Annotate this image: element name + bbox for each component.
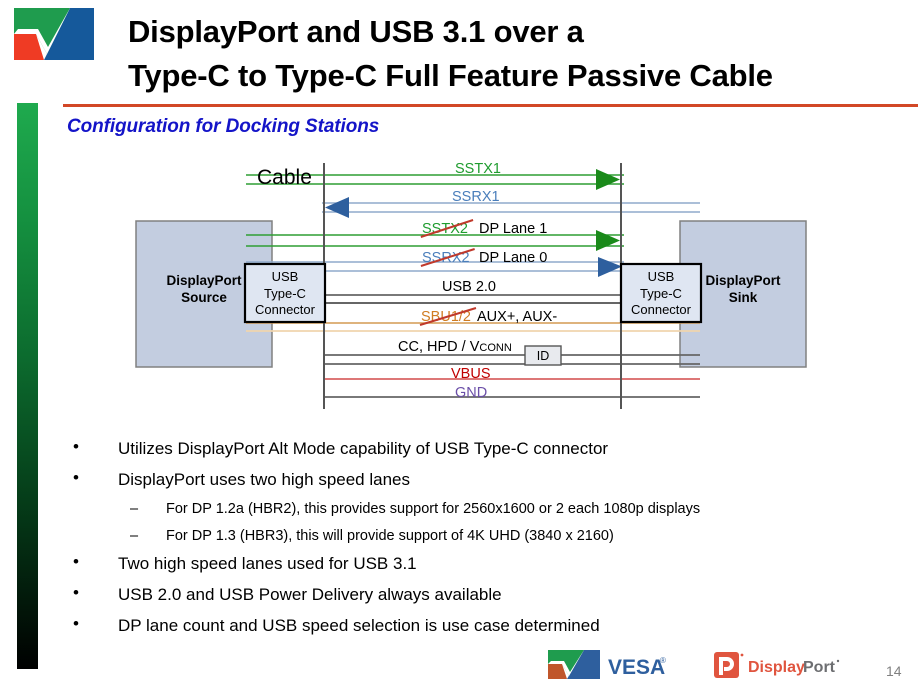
id-box-label: ID — [525, 348, 561, 364]
page-number: 14 — [886, 663, 902, 679]
signal-alt-label-dp-lane-0: DP Lane 0 — [479, 250, 547, 266]
svg-text:Display: Display — [748, 659, 805, 676]
bullet-subitem: For DP 1.2a (HBR2), this provides suppor… — [68, 502, 868, 517]
signal-label-vbus: VBUS — [451, 366, 491, 382]
cable-label: Cable — [257, 166, 312, 190]
signal-alt-label-dp-lane-1: DP Lane 1 — [479, 221, 547, 237]
usb-type-c-connector-right-label: USB Type-C Connector — [621, 269, 701, 319]
page-subtitle: Configuration for Docking Stations — [67, 116, 379, 138]
signal-label-gnd: GND — [455, 385, 487, 401]
bullet-item: USB 2.0 and USB Power Delivery always av… — [68, 586, 868, 603]
bullet-list: Utilizes DisplayPort Alt Mode capability… — [68, 440, 868, 648]
signal-label-sbu: SBU1/2 — [421, 309, 471, 325]
signal-label-usb-20: USB 2.0 — [442, 279, 496, 295]
slide: DisplayPort and USB 3.1 over a Type-C to… — [0, 0, 918, 692]
bullet-item: Two high speed lanes used for USB 3.1 — [68, 555, 868, 572]
signal-label-sstx2: SSTX2 — [422, 221, 468, 237]
title-divider — [63, 104, 918, 107]
page-title: DisplayPort and USB 3.1 over a Type-C to… — [128, 10, 918, 98]
signal-label-sstx1: SSTX1 — [455, 161, 501, 177]
bullet-subitem: For DP 1.3 (HBR3), this will provide sup… — [68, 529, 868, 544]
side-accent-bar — [17, 103, 38, 669]
svg-text:VESA: VESA — [608, 656, 665, 679]
svg-text:®: ® — [660, 656, 666, 665]
bullet-item: DisplayPort uses two high speed lanes — [68, 471, 868, 488]
signal-label-cc-hpd-vconn: CC, HPD / VCONN — [398, 339, 512, 355]
svg-text:Port: Port — [803, 659, 836, 676]
displayport-footer-logo: Display Port — [714, 650, 864, 680]
title-line-2: Type-C to Type-C Full Feature Passive Ca… — [128, 54, 918, 98]
signal-label-ssrx2: SSRX2 — [422, 250, 470, 266]
bullet-item: DP lane count and USB speed selection is… — [68, 617, 868, 634]
vesa-footer-logo: VESA ® — [548, 648, 668, 682]
signal-label-ssrx1: SSRX1 — [452, 189, 500, 205]
title-line-1: DisplayPort and USB 3.1 over a — [128, 14, 584, 49]
bullet-item: Utilizes DisplayPort Alt Mode capability… — [68, 440, 868, 457]
signal-alt-label-aux: AUX+, AUX- — [477, 309, 557, 325]
vesa-logo-mark — [14, 8, 94, 70]
usb-type-c-connector-left-label: USB Type-C Connector — [245, 269, 325, 319]
